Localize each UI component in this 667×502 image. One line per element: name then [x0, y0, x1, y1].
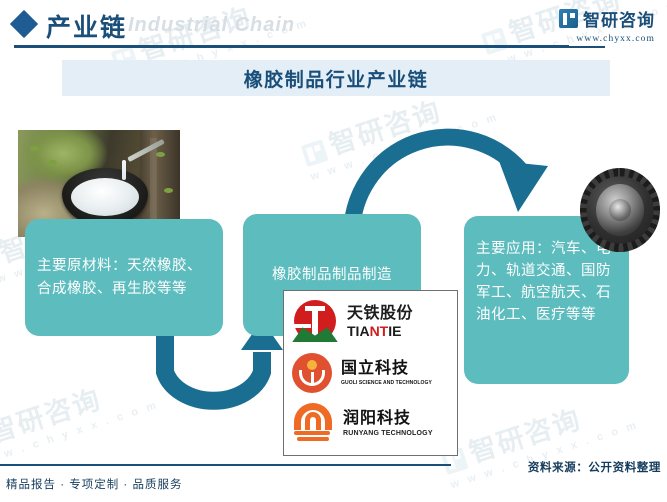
footer-source: 资料来源：公开资料整理 — [528, 459, 661, 475]
footer-divider — [0, 464, 451, 466]
slide-canvas: 智研咨询w w w . c h y x x . c o m 智研咨询w w w … — [0, 0, 667, 502]
tiantie-logo-icon — [292, 300, 338, 344]
diamond-icon — [10, 10, 38, 38]
company-logo-item[interactable]: 国立科技 GUOLI SCIENCE AND TECHNOLOGY — [292, 349, 449, 397]
chain-node-midstream-label: 橡胶制品制品制造 — [272, 264, 392, 286]
chart-title: 橡胶制品行业产业链 — [62, 60, 610, 96]
company-name-cn: 国立科技 — [341, 360, 432, 378]
brand-logo[interactable]: 智研咨询 www.chyxx.com — [559, 6, 655, 44]
header-subtitle-en: Industrial Chain — [128, 14, 295, 37]
tire-photo — [576, 165, 664, 255]
company-name-cn: 润阳科技 — [343, 410, 433, 428]
company-name-en: GUOLI SCIENCE AND TECHNOLOGY — [341, 380, 432, 386]
chain-node-upstream[interactable]: 主要原材料：天然橡胶、合成橡胶、再生胶等等 — [25, 219, 223, 336]
page-header: Industrial Chain 产业链 智研咨询 www.chyxx.com — [0, 0, 667, 52]
header-divider-short — [569, 46, 605, 48]
company-name-en: TIANTIE — [347, 324, 413, 339]
page-title: 产业链 — [46, 8, 127, 44]
company-logo-item[interactable]: 天铁股份 TIANTIE — [292, 298, 449, 346]
brand-url[interactable]: www.chyxx.com — [559, 34, 655, 44]
company-name-cn: 天铁股份 — [347, 306, 413, 323]
runyang-logo-icon — [292, 403, 334, 445]
brand-logo-icon — [559, 9, 578, 28]
header-divider — [14, 45, 569, 48]
guoli-logo-icon — [292, 353, 332, 393]
footer-tagline: 精品报告 · 专项定制 · 品质服务 — [6, 476, 182, 492]
chain-node-upstream-label: 主要原材料：天然橡胶、合成橡胶、再生胶等等 — [37, 255, 211, 299]
company-logo-panel: 天铁股份 TIANTIE 国立科技 GUOLI SCIENCE AND TECH… — [283, 290, 458, 456]
brand-name: 智研咨询 — [583, 6, 655, 31]
chart-title-banner: 橡胶制品行业产业链 — [62, 60, 610, 96]
company-logo-item[interactable]: 润阳科技 RUNYANG TECHNOLOGY — [292, 400, 449, 448]
company-name-en: RUNYANG TECHNOLOGY — [343, 430, 433, 437]
